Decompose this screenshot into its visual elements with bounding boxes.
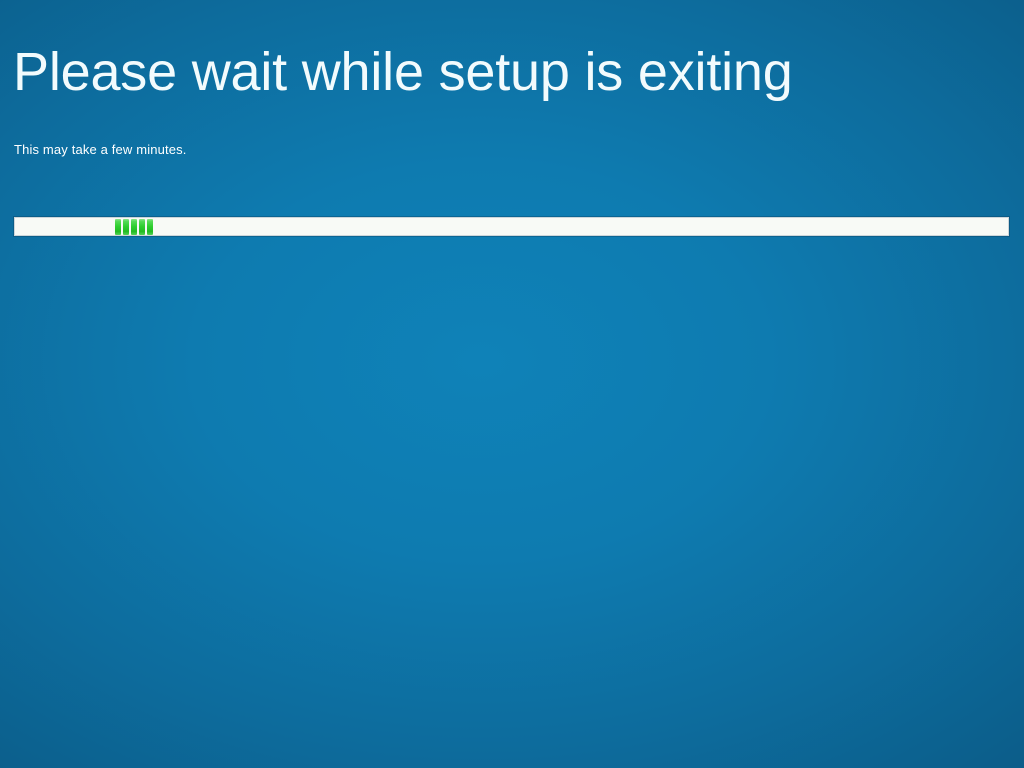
setup-screen: Please wait while setup is exiting This … <box>0 0 1024 768</box>
progress-marquee-segments <box>115 219 153 235</box>
progress-segment <box>123 219 129 235</box>
progress-segment <box>115 219 121 235</box>
progress-segment <box>147 219 153 235</box>
progress-segment <box>139 219 145 235</box>
progress-segment <box>131 219 137 235</box>
page-title: Please wait while setup is exiting <box>13 44 793 101</box>
progress-bar <box>14 217 1009 236</box>
status-message: This may take a few minutes. <box>14 142 187 157</box>
